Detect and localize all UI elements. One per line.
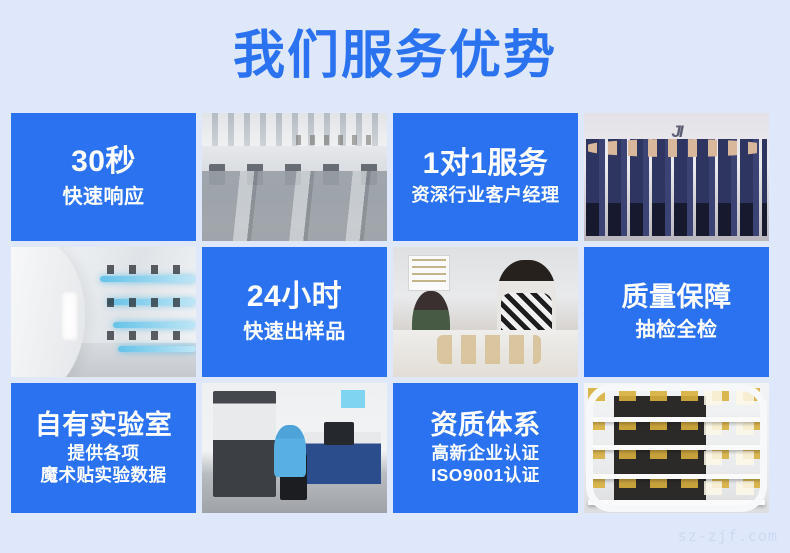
showroom-niche <box>61 291 78 340</box>
feature-card-quality-assurance[interactable]: 质量保障 抽检全检 <box>584 247 769 377</box>
feature-card-own-laboratory[interactable]: 自有实验室 提供各项 魔术贴实验数据 <box>11 383 196 513</box>
watermark: sz-zjf.com <box>678 527 778 545</box>
team-heads <box>586 139 767 157</box>
wall-note <box>341 390 365 408</box>
team-photo-image: JI <box>584 113 769 241</box>
worker-figure <box>497 260 556 335</box>
feature-card-one-to-one-service[interactable]: 1对1服务 资深行业客户经理 <box>393 113 578 241</box>
office-photo <box>202 113 387 241</box>
feature-subline: 提供各项 <box>68 443 140 464</box>
feature-headline: 质量保障 <box>622 282 732 312</box>
feature-subline: 魔术贴实验数据 <box>41 465 167 486</box>
laboratory-photo-image <box>202 383 387 513</box>
cmm-machine <box>213 391 276 498</box>
showroom-photo-image <box>11 247 196 377</box>
display-shelf <box>588 445 766 450</box>
wall-notice-board <box>408 255 451 291</box>
feature-headline: 1对1服务 <box>423 147 549 181</box>
feature-headline: 自有实验室 <box>35 410 173 440</box>
laboratory-photo <box>202 383 387 513</box>
workshop-photo-image <box>393 247 578 377</box>
feature-subline: 快速出样品 <box>243 320 346 344</box>
team-legs <box>586 203 767 236</box>
office-photo-image <box>202 113 387 241</box>
feature-subline: ISO9001认证 <box>431 465 540 486</box>
lab-technician <box>274 425 305 477</box>
title-bar: 我们服务优势 <box>0 0 790 108</box>
feature-subline: 资深行业客户经理 <box>412 185 560 207</box>
feature-headline: 30秒 <box>71 145 136 179</box>
certificates-photo-image <box>584 383 769 513</box>
feature-grid: 30秒 快速响应 1对1服务 资深行业客户经理 JI <box>11 113 779 513</box>
wall-calligraphy <box>296 135 374 145</box>
displayed-products <box>107 265 192 356</box>
feature-subline: 抽检全检 <box>636 318 718 342</box>
team-photo: JI <box>584 113 769 241</box>
showroom-photo <box>11 247 196 377</box>
sample-rolls <box>437 335 541 364</box>
lab-monitor <box>324 422 354 445</box>
cubicle-desks <box>202 171 387 241</box>
display-shelf <box>588 474 766 479</box>
display-shelf <box>588 500 766 505</box>
display-shelf <box>588 417 766 422</box>
feature-headline: 24小时 <box>247 280 342 314</box>
workshop-photo <box>393 247 578 377</box>
feature-card-response-time[interactable]: 30秒 快速响应 <box>11 113 196 241</box>
feature-subline: 高新企业认证 <box>432 443 540 464</box>
feature-card-sample-lead-time[interactable]: 24小时 快速出样品 <box>202 247 387 377</box>
page-title: 我们服务优势 <box>233 30 557 82</box>
feature-subline: 快速响应 <box>63 185 145 209</box>
feature-card-qualification-system[interactable]: 资质体系 高新企业认证 ISO9001认证 <box>393 383 578 513</box>
certificates-photo <box>584 383 769 513</box>
feature-headline: 资质体系 <box>431 410 541 440</box>
promo-banner: 我们服务优势 30秒 快速响应 1对1服务 资深行业客户经理 JI <box>0 0 790 553</box>
